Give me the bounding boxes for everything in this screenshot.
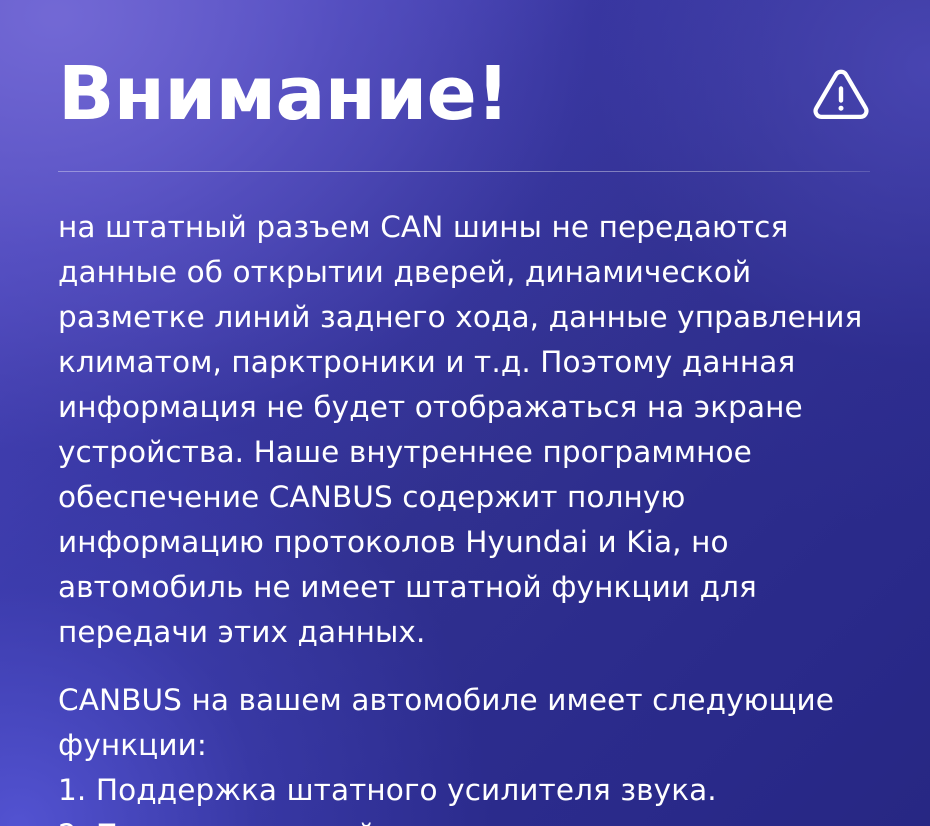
functions-block: CANBUS на вашем автомобиле имеет следующ… (58, 678, 886, 826)
functions-list: 1. Поддержка штатного усилителя звука. 2… (58, 768, 886, 826)
warning-banner: Внимание! на штатный разъем CAN шины не … (0, 0, 930, 826)
functions-intro: CANBUS на вашем автомобиле имеет следующ… (58, 678, 886, 768)
warning-triangle-icon (812, 63, 870, 125)
page-title: Внимание! (58, 52, 509, 136)
list-item: 1. Поддержка штатного усилителя звука. (58, 768, 886, 813)
banner-header: Внимание! (58, 52, 870, 136)
header-divider (58, 171, 870, 172)
notice-paragraph: на штатный разъем CAN шины не передаются… (58, 205, 886, 655)
banner-content: на штатный разъем CAN шины не передаются… (58, 205, 886, 826)
list-item: 2. Питание штатной камеры заднего вида. (58, 813, 886, 826)
